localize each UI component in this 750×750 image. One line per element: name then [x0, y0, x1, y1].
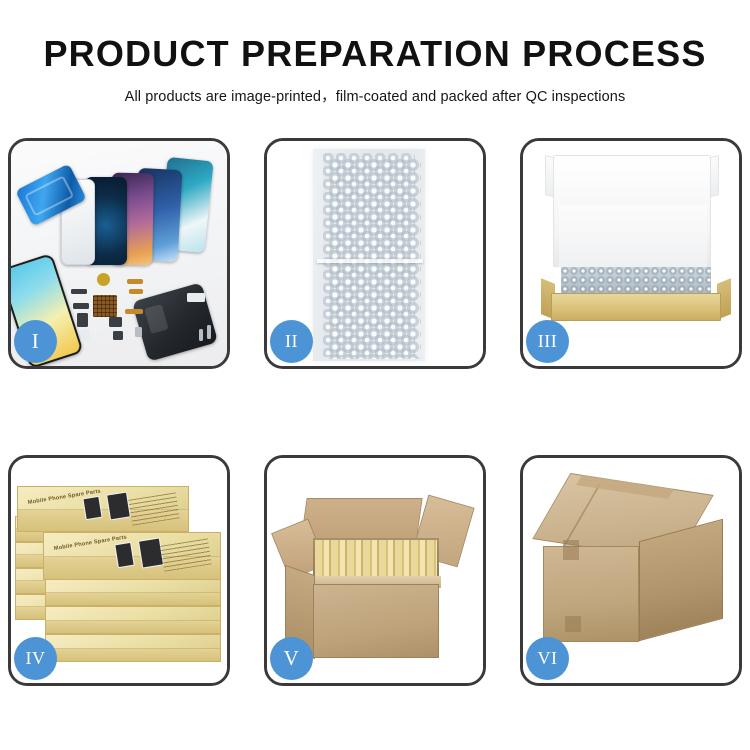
step-badge-6: VI [526, 637, 569, 680]
step-badge-4: IV [14, 637, 57, 680]
box-lid-face [46, 579, 220, 593]
carton-tab-upper [563, 540, 579, 560]
speaker-part-icon [97, 273, 110, 286]
page-title: PRODUCT PREPARATION PROCESS [0, 34, 750, 74]
box-screen-graphic-b [138, 537, 164, 568]
carton-tab-lower [565, 616, 581, 632]
step-panel-4: Mobile Phone Spare Parts Mobile Phone Sp… [8, 455, 230, 686]
product-preparation-infographic: PRODUCT PREPARATION PROCESS All products… [0, 0, 750, 750]
small-part-b-icon [77, 313, 88, 327]
step-badge-2: II [270, 320, 313, 363]
step-panel-6: VI [520, 455, 742, 686]
box-lid-face [46, 635, 220, 649]
step-panel-5: V [264, 455, 486, 686]
step-panel-3: III [520, 138, 742, 369]
earpiece-part-icon [71, 289, 87, 294]
metal-bracket-icon [135, 327, 142, 337]
carton-left-face [543, 546, 639, 642]
page-subtitle: All products are image-printed，film-coat… [0, 85, 750, 106]
vibrator-part-icon [113, 331, 123, 340]
box-screen-graphic-d [106, 492, 131, 521]
header: PRODUCT PREPARATION PROCESS All products… [0, 34, 750, 106]
stacked-box-2: Mobile Phone Spare Parts [43, 532, 221, 580]
box-screen-graphic-c [82, 496, 102, 520]
stacked-box-5 [45, 634, 221, 662]
carton-front-face [313, 584, 439, 658]
connector-chip-icon [93, 295, 117, 317]
tool-handle-icon [187, 293, 205, 302]
foam-insert [559, 205, 707, 267]
small-part-a-icon [73, 303, 89, 309]
box-front-panel [551, 293, 721, 321]
steps-grid: I II [8, 138, 742, 686]
stacked-box-3 [45, 578, 221, 606]
screwdriver-icon [199, 329, 203, 341]
step-panel-1: I [8, 138, 230, 369]
bubble-wrap-seam [317, 259, 423, 263]
camera-module-icon [109, 317, 122, 327]
flex-cable-part-2-icon [129, 289, 143, 294]
flex-cable-part-icon [127, 279, 143, 284]
box-stack: Mobile Phone Spare Parts Mobile Phone Sp… [15, 476, 227, 666]
flex-cable-part-3-icon [125, 309, 143, 314]
stacked-box-1: Mobile Phone Spare Parts [17, 486, 189, 532]
step-badge-5: V [270, 637, 313, 680]
box-screen-graphic-a [114, 542, 135, 568]
stacked-box-4 [45, 606, 221, 634]
tweezers-icon [207, 325, 211, 339]
step-badge-3: III [526, 320, 569, 363]
step-badge-1: I [14, 320, 57, 363]
sim-tray-icon [81, 329, 90, 342]
step-panel-2: II [264, 138, 486, 369]
box-lid-face [46, 607, 220, 621]
